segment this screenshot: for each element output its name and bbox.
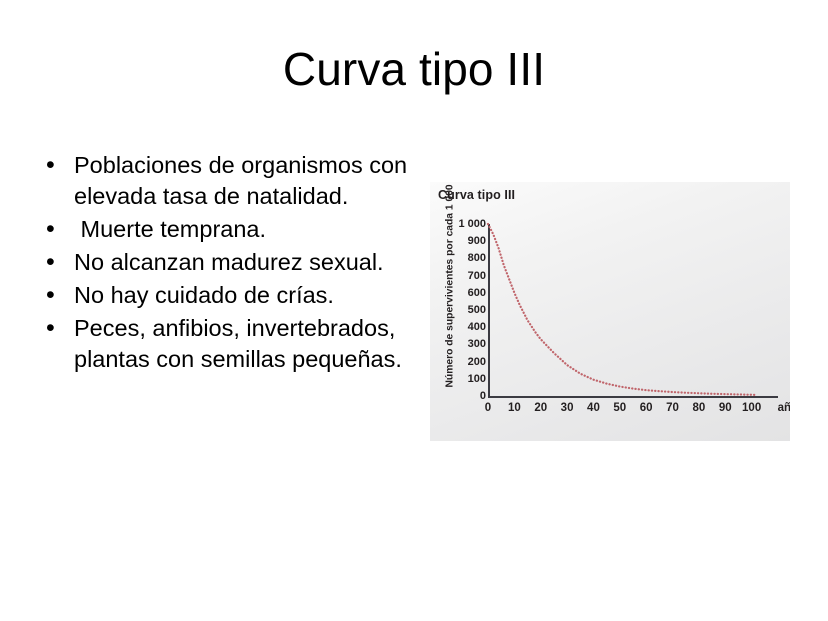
survivorship-curve-figure: Curva tipo III Número de supervivientes … [430,182,790,441]
x-axis-tick: 10 [508,402,521,414]
x-axis-tick: 0 [485,402,491,414]
list-item: • No hay cuidado de crías. [40,280,410,311]
x-axis-unit-label: años [778,402,790,414]
x-axis-tick: 50 [613,402,626,414]
bullet-list: • Poblaciones de organismos con elevada … [40,150,410,377]
bullet-text: Muerte temprana. [74,214,410,245]
slide: Curva tipo III • Poblaciones de organism… [0,0,828,621]
x-axis-tick: 80 [693,402,706,414]
bullet-marker-icon: • [40,280,74,311]
bullet-marker-icon: • [40,247,74,278]
x-axis-tick: 30 [561,402,574,414]
x-axis-tick: 70 [666,402,679,414]
bullet-marker-icon: • [40,150,74,181]
bullet-text: Poblaciones de organismos con elevada ta… [74,150,410,212]
bullet-marker-icon: • [40,313,74,344]
x-axis-tick: 100 [742,402,761,414]
x-axis-tick: 20 [534,402,547,414]
list-item: • No alcanzan madurez sexual. [40,247,410,278]
list-item: • Peces, anfibios, invertebrados, planta… [40,313,410,375]
list-item: • Poblaciones de organismos con elevada … [40,150,410,212]
bullet-text: Peces, anfibios, invertebrados, plantas … [74,313,410,375]
bullet-text: No alcanzan madurez sexual. [74,247,410,278]
x-axis-tick: 60 [640,402,653,414]
x-axis-tick: 40 [587,402,600,414]
curve-path [488,224,757,395]
bullet-marker-icon: • [40,214,74,245]
bullet-text: No hay cuidado de crías. [74,280,410,311]
plot-area: Número de supervivientes por cada 1 000 … [430,210,790,441]
list-item: • Muerte temprana. [40,214,410,245]
x-axis-tick-labels: 0102030405060708090100años [430,402,790,422]
x-axis-tick: 90 [719,402,732,414]
page-title: Curva tipo III [0,44,828,96]
